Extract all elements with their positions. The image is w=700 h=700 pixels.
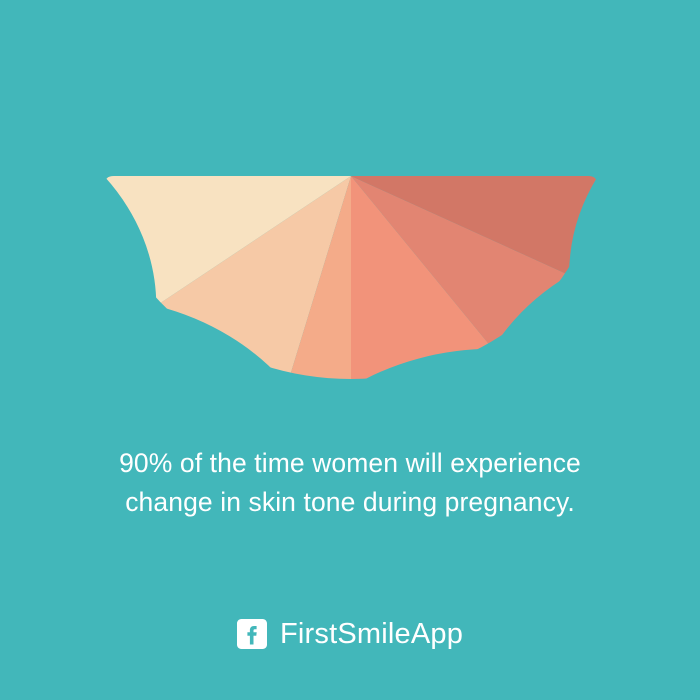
caption-text: 90% of the time women will experience ch… [50,444,650,522]
pie-chart-container [0,0,700,420]
facebook-icon[interactable] [237,619,267,649]
brand-name-label: FirstSmileApp [280,619,463,649]
half-pie-chart [0,0,700,420]
infographic-card: 90% of the time women will experience ch… [0,0,700,700]
pie-slices-group [104,176,598,387]
caption-line-1: 90% of the time women will experience [50,444,650,483]
caption-line-2: change in skin tone during pregnancy. [50,483,650,522]
brand-footer: FirstSmileApp [0,606,700,662]
